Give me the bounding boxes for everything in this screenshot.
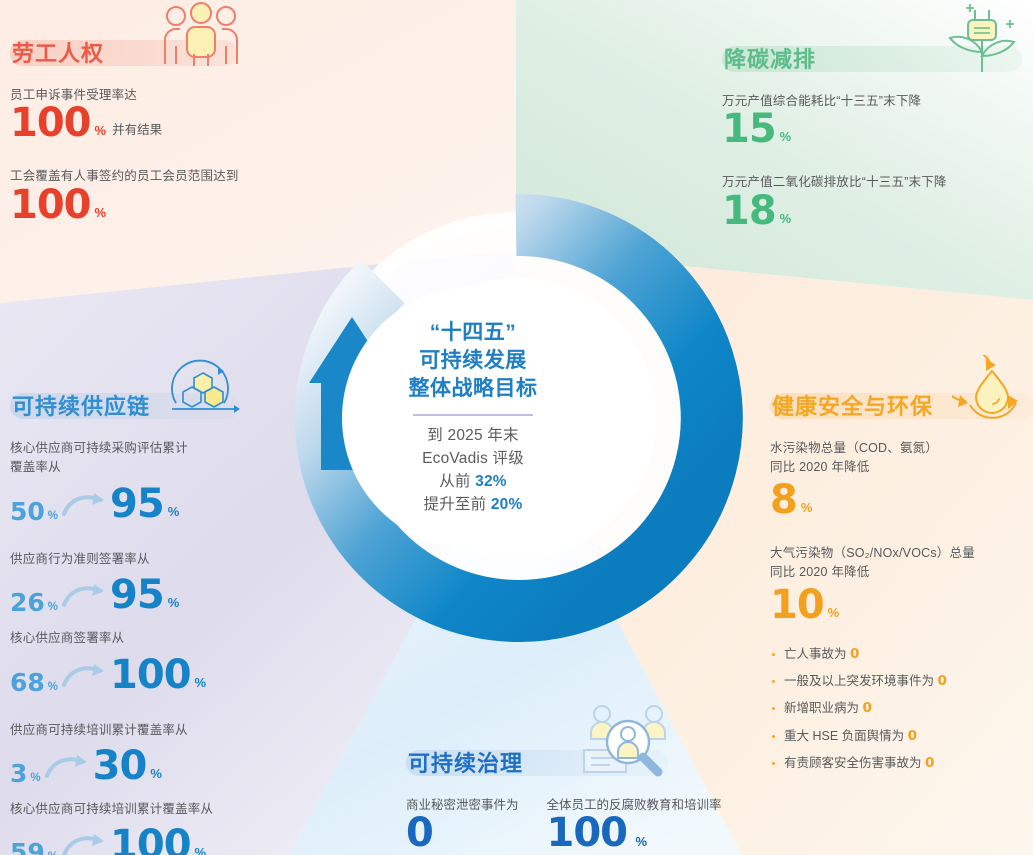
section-carbon-reduction: 降碳减排 万元产值综合能耗比“十三五”末下降 15 % 万元产值 [722,38,1022,231]
carbon-metric-1-unit: % [780,211,792,226]
governance-title: 可持续治理 [406,746,523,778]
center-sub-4-value: 20% [491,496,523,513]
supply-metric-2-from-unit: % [48,681,58,693]
supply-metric-0: 核心供应商可持续采购评估累计 覆盖率从 50 % 95 % [10,439,295,524]
labor-metric-1-value: 100 [10,185,91,225]
supply-metric-0-row: 50 % 95 % [10,484,295,524]
hse-metric-0-caption-2: 同比 2020 年降低 [770,458,1033,477]
hse-bullet-4-value: 0 [925,755,934,771]
carbon-title: 降碳减排 [722,42,816,74]
labor-metric-1-row: 100 % [10,185,310,225]
governance-metric-1-unit: % [635,834,647,849]
center-title: “十四五” 可持续发展 整体战略目标 [409,319,538,403]
carbon-metric-1-value: 18 [722,191,776,231]
governance-metric-0: 商业秘密泄密事件为 0 [406,794,519,853]
supply-metric-2-caption-1: 核心供应商签署率从 [10,629,295,648]
supply-metric-2-to-unit: % [195,675,207,690]
labor-metric-0: 员工申诉事件受理率达 100 % 并有结果 [10,86,310,143]
labor-metric-0-row: 100 % 并有结果 [10,103,310,143]
center-sub-line-2: EcoVadis 评级 [422,448,524,471]
center-divider [413,414,533,416]
center-strategy-card: “十四五” 可持续发展 整体战略目标 到 2025 年末 EcoVadis 评级… [342,287,604,549]
center-sub-4-label: 提升至前 [424,496,491,513]
labor-header: 劳工人权 [10,32,310,72]
magnifier-people-icon [578,702,678,780]
hse-bullet-3: 重大 HSE 负面舆情为 0 [770,723,1033,750]
supply-metric-4-from: 59 [10,840,45,855]
supply-metric-4-row: 59 % 100 % [10,825,295,855]
supply-metric-1-from: 26 [10,590,45,615]
supply-metric-4-arrow-wrap [58,833,110,855]
three-people-icon [158,2,244,70]
supply-metric-4: 核心供应商可持续培训累计覆盖率从 59 % 100 % [10,800,295,855]
center-title-line-1: “十四五” [409,319,538,347]
supply-metric-3-caption-1: 供应商可持续培训累计覆盖率从 [10,721,295,740]
supply-metric-3-from: 3 [10,761,27,786]
hse-metric-0: 水污染物总量（COD、氨氮） 同比 2020 年降低 8 % [770,439,1033,520]
hse-bullet-2-value: 0 [862,700,871,716]
supply-metric-3-to: 30 [93,746,147,786]
hse-header: 健康安全与环保 [770,385,1033,425]
supply-metric-2: 核心供应商签署率从 68 % 100 % [10,629,295,694]
carbon-metric-0-value: 15 [722,109,776,149]
section-governance: 可持续治理 商业秘密泄密事件为 0 [406,742,736,853]
hexagon-cycle-icon [162,351,244,423]
hse-metric-1-row: 10 % [770,585,1033,625]
water-drop-cycle-icon [952,355,1032,425]
labor-metric-1: 工会覆盖有人事签约的员工会员范围达到 100 % [10,167,310,224]
hse-metric-1-caption-1: 大气污染物（SO₂/NOx/VOCs）总量 [770,544,1033,563]
labor-metric-1-unit: % [95,205,107,220]
center-title-line-3: 整体战略目标 [409,375,538,403]
supply-metric-4-to-unit: % [195,845,207,855]
supply-metric-4-from-unit: % [48,851,58,855]
supply-metric-3-arrow-wrap [41,754,93,780]
supply-metric-0-from-unit: % [48,510,58,522]
center-sub-line-3: 从前 32% [422,471,524,494]
governance-header: 可持续治理 [406,742,736,782]
supply-metric-3: 供应商可持续培训累计覆盖率从 3 % 30 % [10,721,295,786]
supply-metric-2-row: 68 % 100 % [10,655,295,695]
hse-bullet-1-value: 0 [937,673,946,689]
hse-bullet-2: 新增职业病为 0 [770,695,1033,722]
supply-metric-0-caption-1: 核心供应商可持续采购评估累计 [10,439,295,458]
labor-metric-0-unit: % [95,123,107,138]
hse-bullet-1-text: 一般及以上突发环境事件为 [784,674,937,688]
governance-metric-1-row: 100 % [547,813,722,853]
hse-metric-0-row: 8 % [770,480,1033,520]
carbon-header: 降碳减排 [722,38,1022,78]
section-hse: 健康安全与环保 水污染物总量（COD、氨氮） 同比 2020 年降低 8 % 大… [770,385,1033,777]
supply-metric-1-arrow-wrap [58,583,110,609]
center-subtitle: 到 2025 年末 EcoVadis 评级 从前 32% 提升至前 20% [422,425,524,517]
hse-bullet-0-value: 0 [850,646,859,662]
hse-bullet-0-text: 亡人事故为 [784,647,850,661]
hse-bullet-4-text: 有责顾客安全伤害事故为 [784,756,925,770]
supply-metric-2-arrow-wrap [58,663,110,689]
supply-metric-1-to-unit: % [168,595,180,610]
labor-metric-0-trailing: 并有结果 [112,119,162,138]
supply-header: 可持续供应链 [10,385,295,425]
hse-metric-1: 大气污染物（SO₂/NOx/VOCs）总量 同比 2020 年降低 10 % [770,544,1033,625]
labor-title: 劳工人权 [10,36,104,68]
hse-metric-0-caption-1: 水污染物总量（COD、氨氮） [770,439,1033,458]
supply-metric-3-to-unit: % [150,766,162,781]
governance-metric-1: 全体员工的反腐败教育和培训率 100 % [547,794,722,853]
plant-plug-icon [940,2,1024,74]
center-title-line-2: 可持续发展 [409,347,538,375]
hse-metric-1-caption-2: 同比 2020 年降低 [770,563,1033,582]
infographic-canvas: “十四五” 可持续发展 整体战略目标 到 2025 年末 EcoVadis 评级… [0,0,1033,855]
carbon-metric-0: 万元产值综合能耗比“十三五”末下降 15 % [722,92,1022,149]
supply-metric-1-from-unit: % [48,601,58,613]
growth-arrow-icon [62,833,106,855]
supply-metric-1-row: 26 % 95 % [10,575,295,615]
hse-metric-0-unit: % [801,500,813,515]
supply-metric-0-from: 50 [10,499,45,524]
growth-arrow-icon [62,492,106,518]
governance-metric-0-row: 0 [406,813,519,853]
supply-title: 可持续供应链 [10,389,150,421]
growth-arrow-icon [62,663,106,689]
hse-metric-0-value: 8 [770,480,797,520]
hse-metric-1-unit: % [828,605,840,620]
labor-metric-0-value: 100 [10,103,91,143]
governance-metric-1-value: 100 [547,810,628,855]
center-sub-3-value: 32% [475,473,507,490]
hse-title: 健康安全与环保 [770,389,933,421]
hse-bullet-2-text: 新增职业病为 [784,701,862,715]
supply-metric-4-caption-1: 核心供应商可持续培训累计覆盖率从 [10,800,295,819]
governance-metric-0-value: 0 [406,810,433,855]
supply-metric-0-to-unit: % [168,504,180,519]
center-sub-line-4: 提升至前 20% [422,494,524,517]
carbon-metric-1-row: 18 % [722,191,1022,231]
hse-metric-1-value: 10 [770,585,824,625]
governance-metric-row: 商业秘密泄密事件为 0 全体员工的反腐败教育和培训率 100 % [406,794,736,853]
carbon-metric-0-unit: % [780,129,792,144]
hse-bullet-3-text: 重大 HSE 负面舆情为 [784,729,908,743]
supply-metric-1: 供应商行为准则签署率从 26 % 95 % [10,550,295,615]
hse-bullet-3-value: 0 [908,728,917,744]
center-sub-line-1: 到 2025 年末 [422,425,524,448]
section-labor-rights: 劳工人权 员工申诉事件受理率达 100 % 并有结果 [10,32,310,225]
supply-metric-0-caption-2: 覆盖率从 [10,458,295,477]
supply-metric-1-caption-1: 供应商行为准则签署率从 [10,550,295,569]
growth-arrow-icon [62,583,106,609]
hse-bullet-0: 亡人事故为 0 [770,641,1033,668]
supply-metric-0-to: 95 [110,484,164,524]
carbon-metric-1: 万元产值二氧化碳排放比“十三五”末下降 18 % [722,173,1022,230]
growth-arrow-icon [45,754,89,780]
section-supply-chain: 可持续供应链 核心供应商可持续采购评估累计 覆盖率从 50 % [10,385,295,855]
supply-metric-3-from-unit: % [30,772,40,784]
center-strategy-wrap: “十四五” 可持续发展 整体战略目标 到 2025 年末 EcoVadis 评级… [278,223,668,613]
supply-metric-4-to: 100 [110,825,191,855]
carbon-metric-0-row: 15 % [722,109,1022,149]
hse-bullet-list: 亡人事故为 0 一般及以上突发环境事件为 0 新增职业病为 0 重大 HSE 负… [770,641,1033,778]
supply-metric-1-to: 95 [110,575,164,615]
supply-metric-2-from: 68 [10,670,45,695]
supply-metric-2-to: 100 [110,655,191,695]
hse-bullet-1: 一般及以上突发环境事件为 0 [770,668,1033,695]
hse-bullet-4: 有责顾客安全伤害事故为 0 [770,750,1033,777]
supply-metric-3-row: 3 % 30 % [10,746,295,786]
supply-metric-0-arrow-wrap [58,492,110,518]
center-sub-3-label: 从前 [439,473,475,490]
